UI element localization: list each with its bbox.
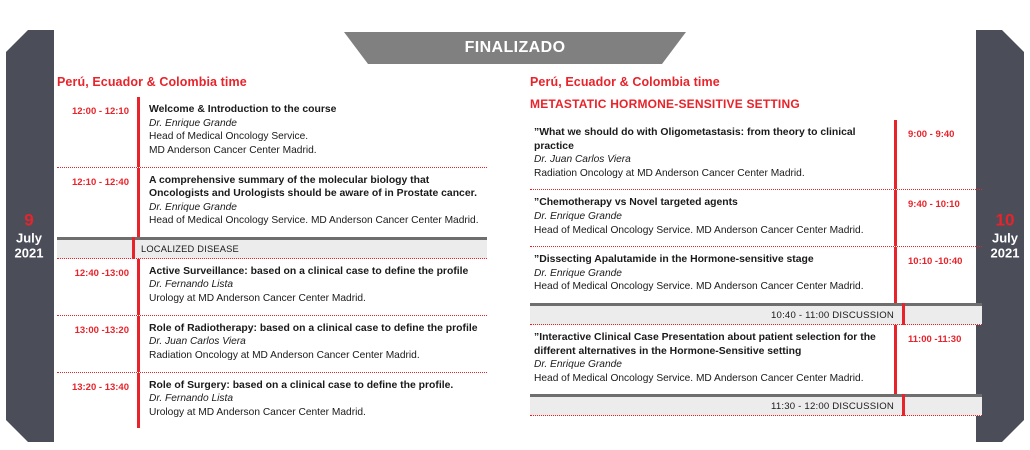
session-title: Active Surveillance: based on a clinical… (149, 265, 487, 279)
day-number-left: 9 (6, 211, 52, 231)
session-body: Active Surveillance: based on a clinical… (140, 259, 487, 315)
session-body: A comprehensive summary of the molecular… (140, 168, 487, 237)
day-panel-right: 10 July 2021 (976, 30, 1024, 442)
session-row[interactable]: ”Dissecting Apalutamide in the Hormone-s… (530, 246, 982, 303)
session-time: 13:20 - 13:40 (57, 373, 137, 393)
session-time: 12:40 -13:00 (57, 259, 137, 279)
session-time: 10:10 -10:40 (897, 247, 982, 267)
session-speaker: Dr. Fernando Lista (149, 278, 487, 292)
day-number-right: 10 (986, 211, 1024, 231)
band-accent-bar (902, 394, 905, 416)
session-row[interactable]: 12:00 - 12:10 Welcome & Introduction to … (57, 97, 487, 167)
agenda-column-day-9: Perú, Ecuador & Colombia time 12:00 - 12… (57, 75, 487, 428)
session-title: ”Chemotherapy vs Novel targeted agents (534, 196, 885, 210)
session-body: ”Chemotherapy vs Novel targeted agents D… (530, 190, 894, 246)
band-accent-bar (132, 237, 135, 259)
discussion-band-2: 11:30 - 12:00 DISCUSSION (530, 394, 982, 416)
session-speaker: Dr. Enrique Grande (534, 358, 885, 372)
session-affiliation: Head of Medical Oncology Service. MD And… (534, 280, 885, 294)
discussion-band-label: 11:30 - 12:00 DISCUSSION (530, 401, 982, 412)
status-ribbon-label: FINALIZADO (465, 39, 566, 57)
session-time: 11:00 -11:30 (897, 325, 982, 345)
session-time: 13:00 -13:20 (57, 316, 137, 336)
session-row[interactable]: 13:00 -13:20 Role of Radiotherapy: based… (57, 315, 487, 372)
day-panel-right-inner: 10 July 2021 (976, 211, 1024, 262)
session-time: 12:00 - 12:10 (57, 97, 137, 117)
session-affiliation: Urology at MD Anderson Cancer Center Mad… (149, 406, 487, 420)
day-panel-left: 9 July 2021 (6, 30, 54, 442)
session-affiliation: Radiation Oncology at MD Anderson Cancer… (534, 167, 885, 181)
session-speaker: Dr. Fernando Lista (149, 392, 487, 406)
session-row[interactable]: 12:40 -13:00 Active Surveillance: based … (57, 259, 487, 315)
session-body: Role of Surgery: based on a clinical cas… (140, 373, 487, 429)
session-row[interactable]: 12:10 - 12:40 A comprehensive summary of… (57, 167, 487, 237)
session-affiliation-2: MD Anderson Cancer Center Madrid. (149, 144, 487, 158)
session-affiliation: Urology at MD Anderson Cancer Center Mad… (149, 292, 487, 306)
session-title: A comprehensive summary of the molecular… (149, 174, 487, 201)
timezone-title-left: Perú, Ecuador & Colombia time (57, 75, 487, 89)
session-title: ”What we should do with Oligometastasis:… (534, 126, 885, 153)
session-body: ”What we should do with Oligometastasis:… (530, 120, 894, 189)
session-time: 12:10 - 12:40 (57, 168, 137, 188)
session-title: Role of Surgery: based on a clinical cas… (149, 379, 487, 393)
session-title: Role of Radiotherapy: based on a clinica… (149, 322, 487, 336)
band-accent-bar (902, 303, 905, 325)
day-month-left: July (6, 231, 52, 246)
session-body: ”Dissecting Apalutamide in the Hormone-s… (530, 247, 894, 303)
discussion-band-1: 10:40 - 11:00 DISCUSSION (530, 303, 982, 325)
session-affiliation: Head of Medical Oncology Service. MD And… (534, 372, 885, 386)
day-panel-left-inner: 9 July 2021 (6, 211, 54, 262)
session-affiliation: Radiation Oncology at MD Anderson Cancer… (149, 349, 487, 363)
section-band-localized-disease: LOCALIZED DISEASE (57, 237, 487, 259)
session-body: Welcome & Introduction to the course Dr.… (140, 97, 487, 167)
day-month-right: July (986, 231, 1024, 246)
day-year-right: 2021 (986, 246, 1024, 261)
session-speaker: Dr. Juan Carlos Viera (149, 335, 487, 349)
session-speaker: Dr. Enrique Grande (534, 210, 885, 224)
session-speaker: Dr. Juan Carlos Viera (534, 153, 885, 167)
session-speaker: Dr. Enrique Grande (534, 267, 885, 281)
timezone-title-right: Perú, Ecuador & Colombia time (530, 75, 982, 89)
session-body: ”Interactive Clinical Case Presentation … (530, 325, 894, 394)
discussion-band-label: 10:40 - 11:00 DISCUSSION (530, 310, 982, 321)
session-row[interactable]: 13:20 - 13:40 Role of Surgery: based on … (57, 372, 487, 429)
agenda-page: 9 July 2021 10 July 2021 FINALIZADO Perú… (0, 0, 1030, 450)
session-affiliation: Head of Medical Oncology Service. MD And… (534, 224, 885, 238)
session-row[interactable]: ”What we should do with Oligometastasis:… (530, 120, 982, 189)
session-speaker: Dr. Enrique Grande (149, 117, 487, 131)
session-affiliation: Head of Medical Oncology Service. (149, 130, 487, 144)
session-speaker: Dr. Enrique Grande (149, 201, 487, 215)
section-title-metastatic: METASTATIC HORMONE-SENSITIVE SETTING (530, 97, 982, 111)
status-ribbon: FINALIZADO (344, 32, 686, 64)
section-band-label: LOCALIZED DISEASE (57, 244, 239, 254)
session-title: ”Dissecting Apalutamide in the Hormone-s… (534, 253, 885, 267)
session-time: 9:00 - 9:40 (897, 120, 982, 140)
session-affiliation: Head of Medical Oncology Service. MD And… (149, 214, 487, 228)
session-title: ”Interactive Clinical Case Presentation … (534, 331, 885, 358)
session-body: Role of Radiotherapy: based on a clinica… (140, 316, 487, 372)
session-time: 9:40 - 10:10 (897, 190, 982, 210)
session-row[interactable]: ”Chemotherapy vs Novel targeted agents D… (530, 189, 982, 246)
session-row[interactable]: ”Interactive Clinical Case Presentation … (530, 325, 982, 394)
day-year-left: 2021 (6, 246, 52, 261)
agenda-column-day-10: Perú, Ecuador & Colombia time METASTATIC… (530, 75, 982, 416)
session-title: Welcome & Introduction to the course (149, 103, 487, 117)
